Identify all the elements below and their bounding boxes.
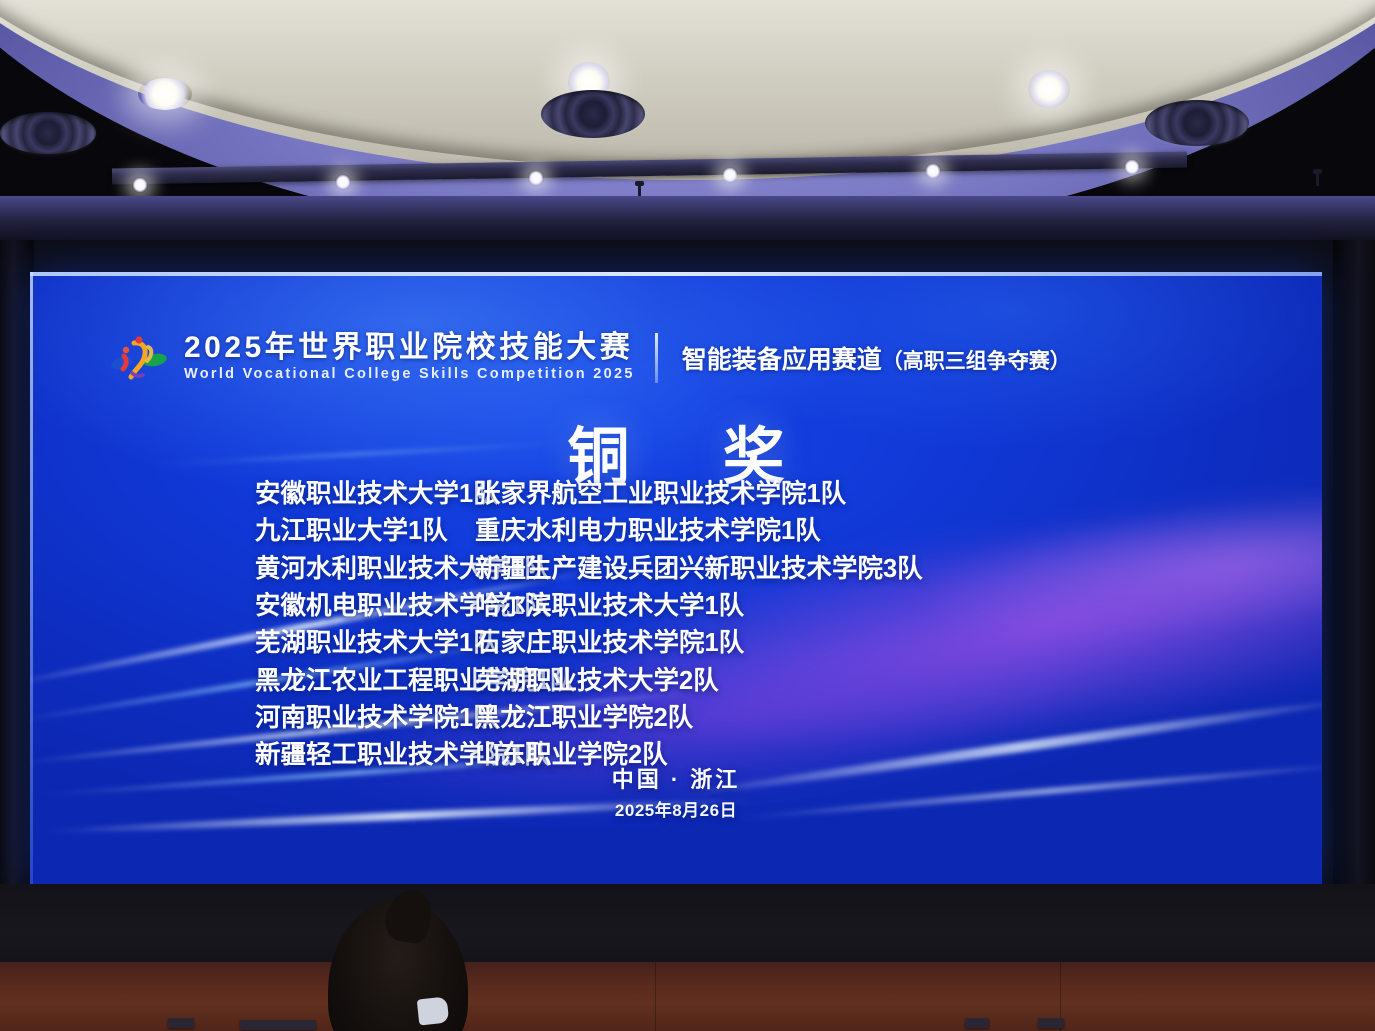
ceiling-downlight <box>1028 70 1070 108</box>
ceiling-speaker-vent <box>1145 100 1249 146</box>
screen-header-titles: 2025年世界职业院校技能大赛 World Vocational College… <box>184 332 635 384</box>
winner-item: 安徽机电职业技术学院1队 <box>255 588 460 625</box>
winners-column-left: 安徽职业技术大学1队 九江职业大学1队 黄河水利职业技术大学1队 安徽机电职业技… <box>30 476 460 775</box>
floor-seam <box>655 962 656 1031</box>
winner-item: 重庆水利电力职业技术学院1队 <box>475 513 923 550</box>
winners-columns: 安徽职业技术大学1队 九江职业大学1队 黄河水利职业技术大学1队 安徽机电职业技… <box>30 476 1322 775</box>
competition-title-cn: 2025年世界职业院校技能大赛 <box>184 332 635 364</box>
track-name-text: 智能装备应用赛道 <box>682 346 882 374</box>
ceiling-bar-spot <box>335 174 351 190</box>
ceiling-bar-spot <box>1124 159 1140 175</box>
event-date: 2025年8月26日 <box>30 796 1322 821</box>
winner-item: 九江职业大学1队 <box>255 513 460 550</box>
winner-item: 张家界航空工业职业技术学院1队 <box>475 476 923 513</box>
winners-column-right: 张家界航空工业职业技术学院1队 重庆水利电力职业技术学院1队 新疆生产建设兵团兴… <box>460 476 923 775</box>
winner-item: 石家庄职业技术学院1队 <box>475 625 923 662</box>
screen-footer: 中国 · 浙江 2025年8月26日 <box>30 762 1322 821</box>
auditorium-scene: 2025年世界职业院校技能大赛 World Vocational College… <box>0 0 1375 1031</box>
header-divider <box>655 333 658 383</box>
event-place: 中国 · 浙江 <box>30 762 1322 794</box>
ceiling-shadow-band <box>0 196 1375 246</box>
audience-person-mask <box>417 997 450 1026</box>
wvcsc-ribbon-logo <box>108 333 170 383</box>
ceiling-hanger-pin <box>1316 172 1319 186</box>
stage-curtain-left <box>0 240 34 960</box>
floor-marker <box>965 1018 989 1028</box>
ceiling-speaker-vent <box>541 90 645 138</box>
led-screen[interactable]: 2025年世界职业院校技能大赛 World Vocational College… <box>30 272 1322 885</box>
ceiling-downlight <box>138 78 192 110</box>
ceiling <box>0 0 1375 246</box>
winner-item: 芜湖职业技术大学2队 <box>475 663 923 700</box>
ceiling-bar-spot <box>925 163 941 179</box>
stage-skirt <box>0 884 1375 970</box>
winner-item: 黑龙江职业学院2队 <box>475 700 923 737</box>
competition-title-en: World Vocational College Skills Competit… <box>184 365 635 383</box>
track-name: 智能装备应用赛道（高职三组争夺赛） <box>682 340 1071 376</box>
track-group-text: （高职三组争夺赛） <box>882 350 1071 373</box>
winner-item: 黄河水利职业技术大学1队 <box>255 551 460 588</box>
screen-top-edge-glow <box>30 272 1322 276</box>
floor-marker <box>168 1018 194 1028</box>
ceiling-speaker-vent <box>0 112 96 154</box>
floor-marker <box>1038 1018 1064 1028</box>
floor-marker <box>240 1020 316 1030</box>
ceiling-bar-spot <box>132 177 148 193</box>
winner-item: 黑龙江农业工程职业学院1队 <box>255 663 460 700</box>
screen-header: 2025年世界职业院校技能大赛 World Vocational College… <box>108 332 1071 384</box>
screen-left-edge-glow <box>30 272 33 885</box>
winner-item: 新疆生产建设兵团兴新职业技术学院3队 <box>475 551 923 588</box>
ceiling-bar-spot <box>528 170 544 186</box>
winner-item: 安徽职业技术大学1队 <box>255 476 460 513</box>
winner-item: 芜湖职业技术大学1队 <box>255 625 460 662</box>
winner-item: 河南职业技术学院1队 <box>255 700 460 737</box>
stage-floor <box>0 962 1375 1031</box>
ceiling-bar-spot <box>722 167 738 183</box>
winner-item: 哈尔滨职业技术大学1队 <box>475 588 923 625</box>
stage-curtain-right <box>1333 240 1375 960</box>
